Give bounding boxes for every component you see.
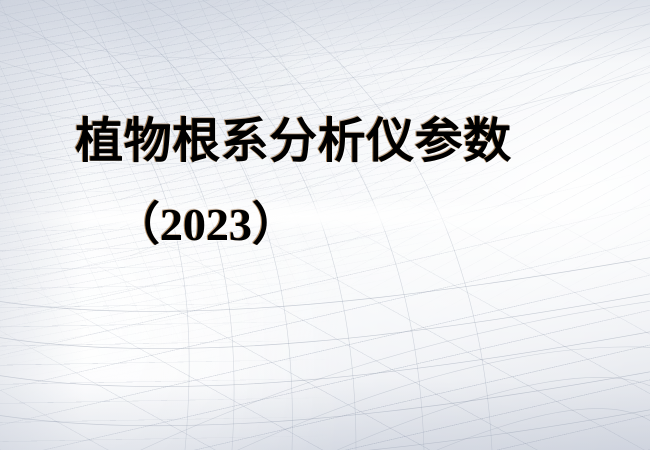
slide-title: 植物根系分析仪参数 xyxy=(0,118,650,166)
title-slide: 植物根系分析仪参数 （2023） xyxy=(0,0,650,450)
slide-subtitle-year: （2023） xyxy=(0,202,650,248)
title-text-block: 植物根系分析仪参数 （2023） xyxy=(0,118,650,248)
